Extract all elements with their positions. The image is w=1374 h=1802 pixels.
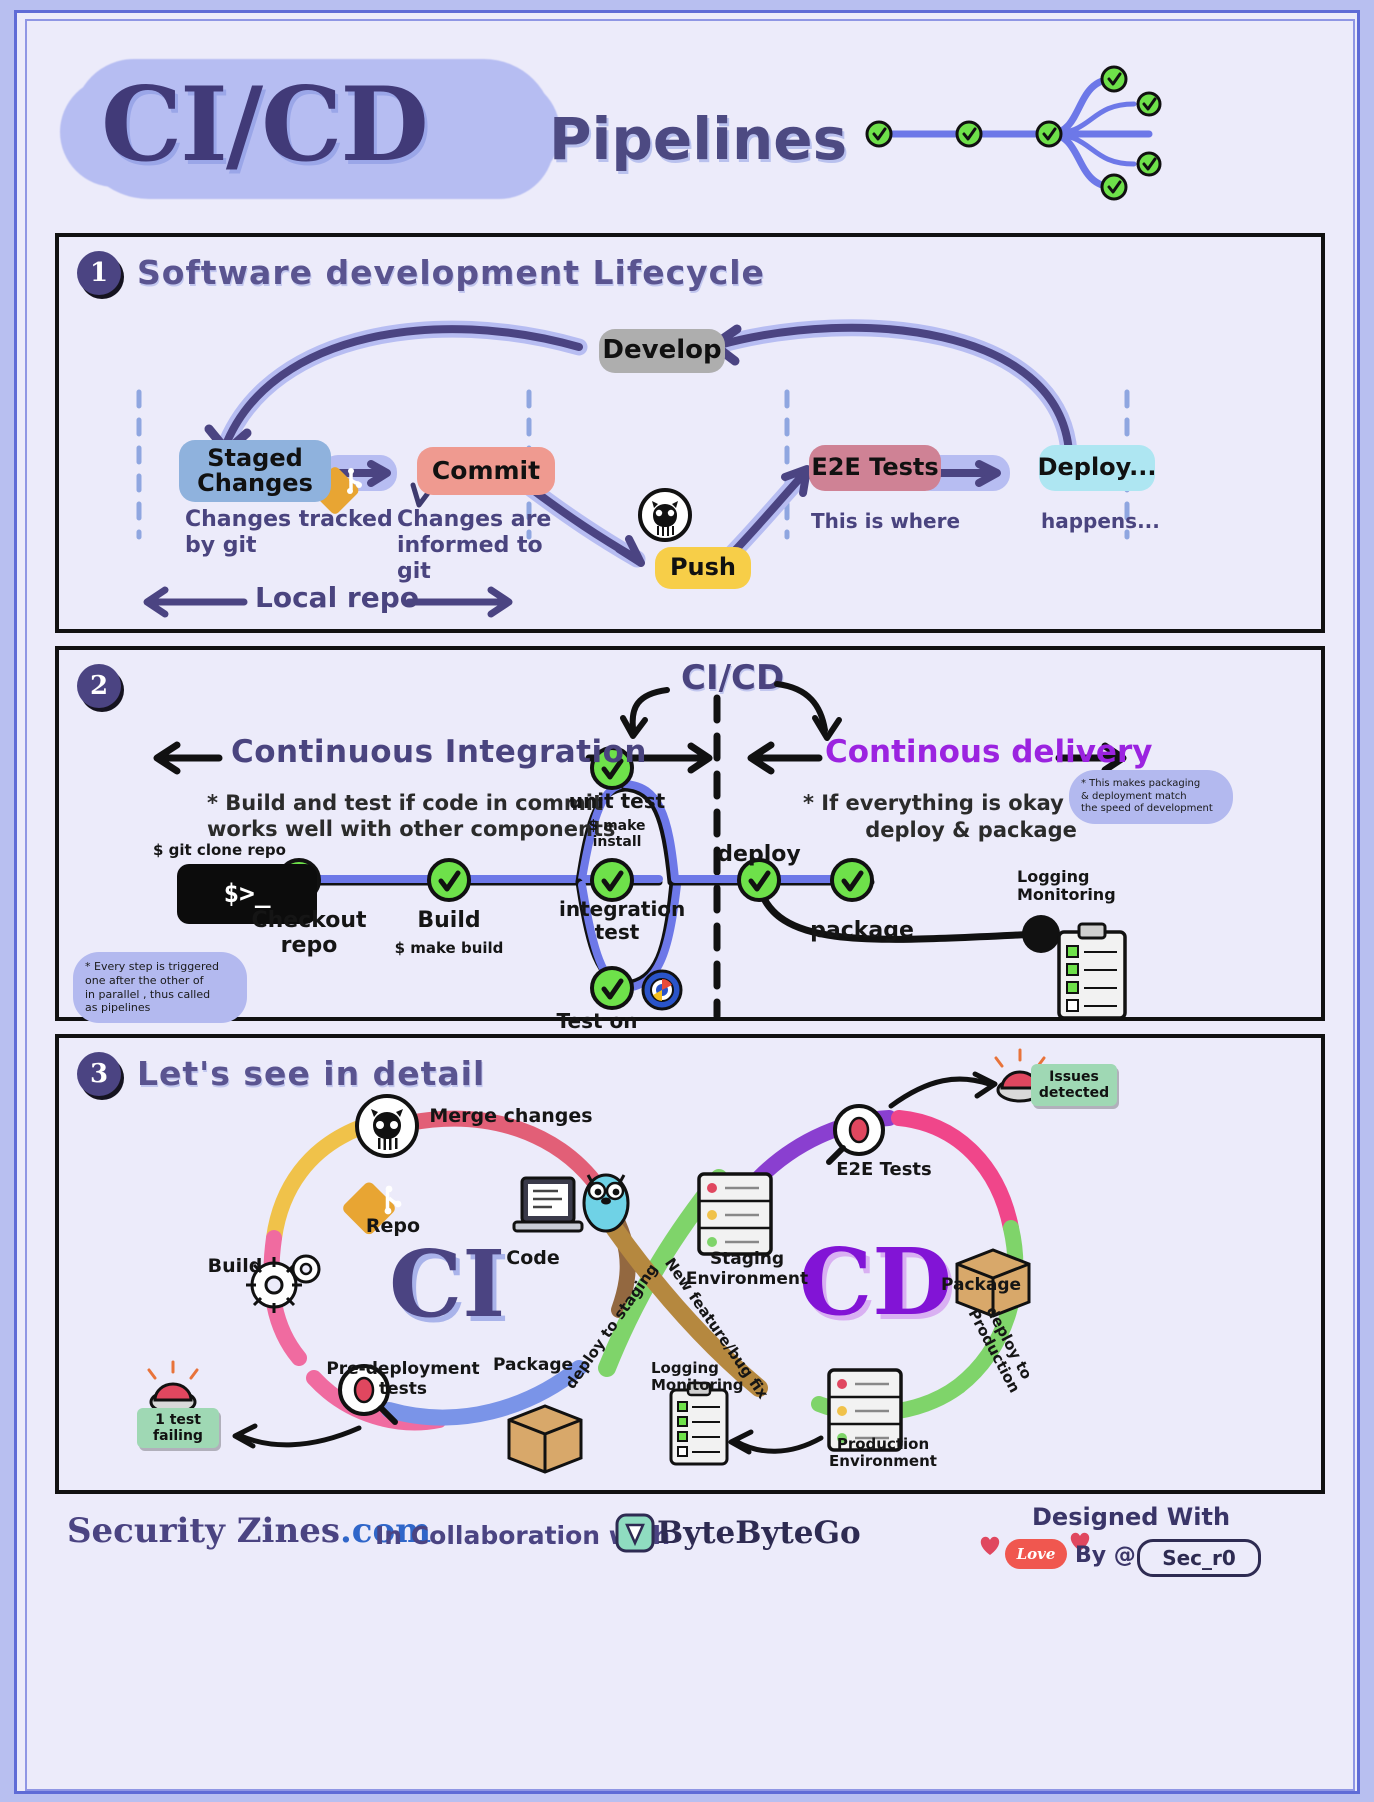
label-pre-deployment-tests: Pre-deployment tests <box>323 1360 483 1399</box>
label-logging-monitoring-cd: Logging Monitoring <box>651 1360 761 1395</box>
pipeline-label-test-on: Test on <box>551 1010 643 1033</box>
pipeline-label-integration-test: integration test <box>559 898 675 944</box>
pipeline-cmd-build: $ make build <box>389 940 509 957</box>
section-1-sdlc: 1 Software development Lifecycle <box>55 233 1325 633</box>
label-merge-changes: Merge changes <box>411 1106 611 1128</box>
poster-inner: CI/CD Pipelines <box>25 19 1355 1791</box>
ci-big-label: CI <box>389 1230 505 1338</box>
sticky-issues-detected: Issues detected <box>1031 1064 1117 1106</box>
node-commit[interactable]: Commit <box>417 447 555 495</box>
section-3-detail: 3 Let's see in detail <box>55 1034 1325 1494</box>
brand-name: Security Zines <box>67 1511 340 1551</box>
label-code: Code <box>491 1248 575 1270</box>
node-push[interactable]: Push <box>655 547 751 589</box>
note-ci-description: * Build and test if code in commit works… <box>207 790 615 843</box>
heading-continuous-integration: Continuous Integration <box>231 734 647 770</box>
love-badge: Love <box>1005 1539 1067 1569</box>
page-title: CI/CD <box>101 65 427 185</box>
heading-continuous-delivery: Continous delivery <box>825 734 1152 770</box>
partner-name: ByteByteGo <box>657 1515 861 1551</box>
pipeline-label-checkout: Checkout repo <box>249 908 369 959</box>
caption-deploy: happens... <box>1041 509 1160 533</box>
node-staged-changes[interactable]: Staged Changes <box>179 440 331 502</box>
label-repo: Repo <box>351 1216 435 1238</box>
caption-e2e: This is where <box>811 509 960 533</box>
poster-page: CI/CD Pipelines <box>14 10 1360 1794</box>
pipeline-label-unit-test: unit test <box>567 790 667 813</box>
poster-footer: Security Zines.com In Collaboration with… <box>57 1503 1347 1583</box>
label-production-environment: Production Environment <box>815 1436 951 1471</box>
cd-big-label: CD <box>799 1228 952 1336</box>
label-build: Build <box>193 1256 277 1278</box>
caption-staged: Changes tracked by git <box>185 507 393 559</box>
terminal-command: $ git clone repo <box>153 842 333 859</box>
bytebytego-logo-icon <box>613 1511 657 1555</box>
section-2-ci-cd: 2 CI/CD <box>55 646 1325 1021</box>
designed-with-text: Designed With <box>1032 1503 1230 1531</box>
node-develop[interactable]: Develop <box>599 329 725 373</box>
sticky-test-failing: 1 test failing <box>137 1408 219 1448</box>
pipeline-cmd-unit-test: $ make install <box>562 818 672 850</box>
label-e2e-tests-cd: E2E Tests <box>829 1160 939 1181</box>
page-subtitle: Pipelines <box>549 105 847 173</box>
label-local-repo: Local repo <box>255 581 419 614</box>
by-text: By @ <box>1075 1543 1136 1568</box>
heart-icon <box>977 1533 1003 1557</box>
label-staging-environment: Staging Environment <box>679 1250 815 1289</box>
node-deploy[interactable]: Deploy... <box>1039 445 1155 491</box>
pipeline-label-build: Build <box>399 908 499 933</box>
pipeline-label-logging-monitoring: Logging Monitoring <box>1017 868 1157 905</box>
note-packaging-speed: * This makes packaging & deployment matc… <box>1069 770 1233 824</box>
pipeline-label-package: package <box>807 918 917 943</box>
poster-header: CI/CD Pipelines <box>49 39 1329 215</box>
node-e2e-tests[interactable]: E2E Tests <box>809 445 941 491</box>
author-handle[interactable]: Sec_r0 <box>1137 1539 1261 1577</box>
git-branch-graph-icon <box>849 59 1179 209</box>
caption-commit: Changes are informed to git <box>397 507 551 585</box>
pipeline-label-deploy: deploy <box>714 842 804 867</box>
note-pipelines: * Every step is triggered one after the … <box>73 952 247 1023</box>
